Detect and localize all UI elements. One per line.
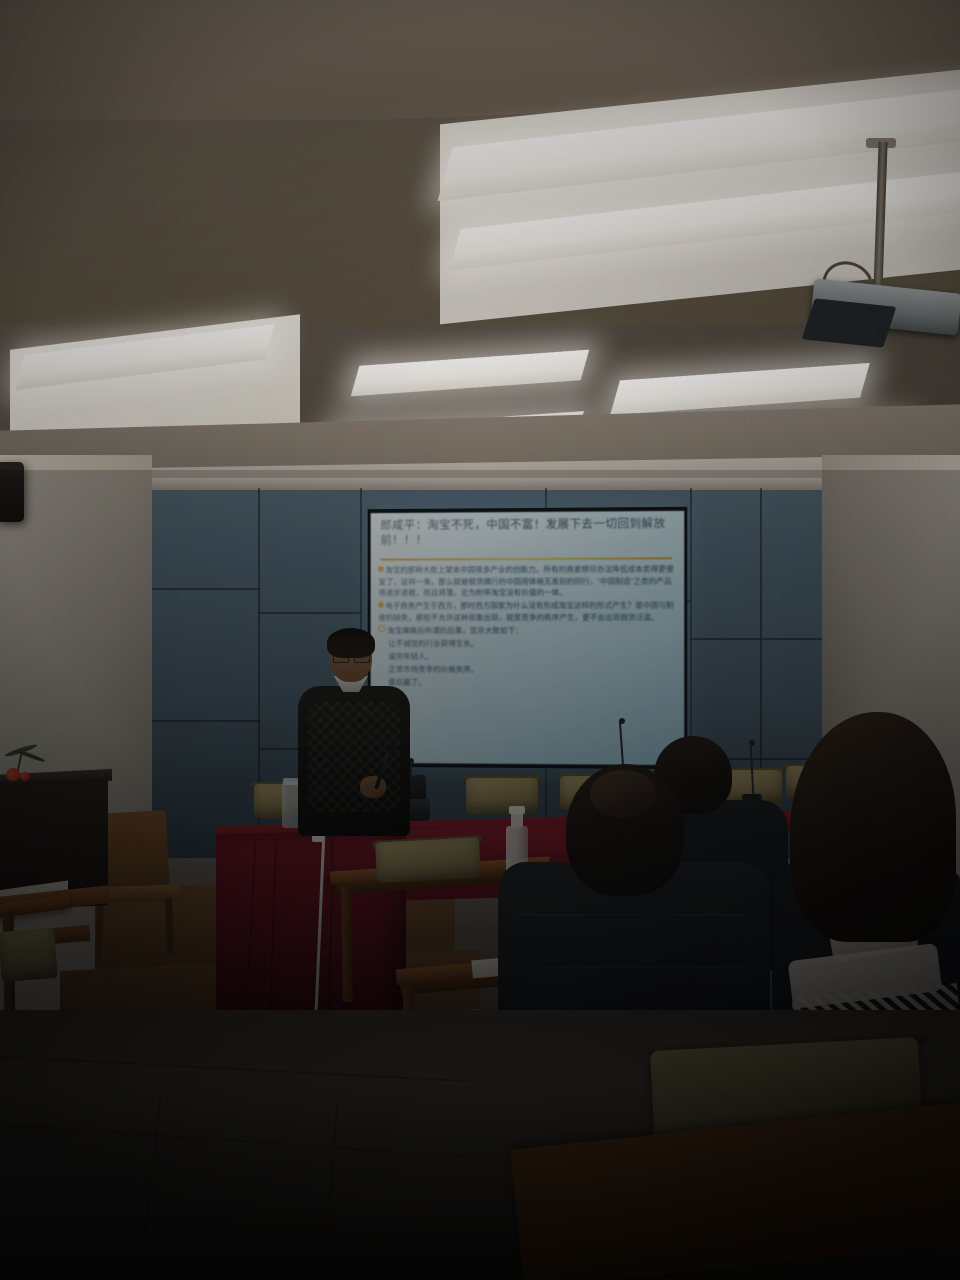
slide-subitem: 让不诚信的行业获得生长。 bbox=[378, 638, 678, 650]
flower-bloom-icon bbox=[20, 772, 30, 781]
glasses-lens-icon bbox=[333, 652, 349, 663]
chair-back bbox=[375, 837, 481, 882]
audience-member-long-hair-hair bbox=[790, 712, 956, 942]
panel-seam bbox=[140, 720, 260, 722]
presenter bbox=[296, 632, 412, 832]
slide-bullet: 电子商务产生于西方，那时西方国家为什么没有形成淘宝这样的形式产生？是中国与制度的… bbox=[378, 600, 678, 624]
bullet-square-icon bbox=[378, 603, 383, 608]
glasses-lens-icon bbox=[354, 652, 370, 663]
slide-subitem: 最后赢了。 bbox=[378, 677, 678, 689]
panel-wall-trim bbox=[138, 478, 834, 490]
chair-back bbox=[466, 778, 538, 814]
panel-seam bbox=[258, 612, 362, 614]
slide-bullet-text: 淘宝的那种大批上架本中国很多产业的创新力，所有的商家想尽办法降低成本卖得更便宜了… bbox=[378, 564, 673, 597]
chair[interactable] bbox=[466, 778, 538, 814]
projector-bracket bbox=[802, 298, 897, 347]
bullet-ring-icon bbox=[378, 625, 385, 632]
wall-speaker-icon bbox=[0, 462, 24, 522]
desk-leg bbox=[341, 886, 353, 1002]
slide-surface: 郎咸平：淘宝不死，中国不富！发展下去一切回到解放前！！！ 淘宝的那种大批上架本中… bbox=[371, 511, 685, 765]
slide-title-rule bbox=[380, 557, 672, 560]
slide-bullet-text: 电子商务产生于西方，那时西方国家为什么没有形成淘宝这样的形式产生？是中国与制度的… bbox=[378, 601, 673, 622]
bullet-square-icon bbox=[378, 567, 383, 572]
lecture-room-photo: 郎咸平：淘宝不死，中国不富！发展下去一切回到解放前！！！ 淘宝的那种大批上架本中… bbox=[0, 0, 960, 1280]
slide-subitem: 正常市场竞争的价格失序。 bbox=[378, 664, 678, 676]
chair[interactable] bbox=[375, 837, 481, 882]
slide-bullet: 淘宝的那种大批上架本中国很多产业的创新力，所有的商家想尽办法降低成本卖得更便宜了… bbox=[378, 563, 678, 599]
presenter-hand bbox=[360, 776, 386, 798]
slide-title: 郎咸平：淘宝不死，中国不富！发展下去一切回到解放前！！！ bbox=[380, 517, 678, 549]
jacket-seam bbox=[514, 966, 750, 968]
panel-seam bbox=[690, 638, 830, 640]
slide-subitem: 逼穷年轻人。 bbox=[378, 651, 678, 663]
chair-back bbox=[0, 928, 58, 982]
chair[interactable] bbox=[0, 928, 58, 982]
projection-screen: 郎咸平：淘宝不死，中国不富！发展下去一切回到解放前！！！ 淘宝的那种大批上架本中… bbox=[368, 507, 688, 769]
microphone-head-icon bbox=[388, 744, 396, 754]
panel-seam bbox=[140, 588, 260, 590]
hair-highlight bbox=[590, 770, 656, 818]
flower-bloom-icon bbox=[6, 768, 20, 781]
jacket-seam bbox=[516, 914, 748, 916]
slide-bullet: 淘宝瘫痪后所谓的后果，显示大致如下： bbox=[378, 625, 678, 637]
slide-body: 淘宝的那种大批上架本中国很多产业的创新力，所有的商家想尽办法降低成本卖得更便宜了… bbox=[378, 563, 678, 691]
